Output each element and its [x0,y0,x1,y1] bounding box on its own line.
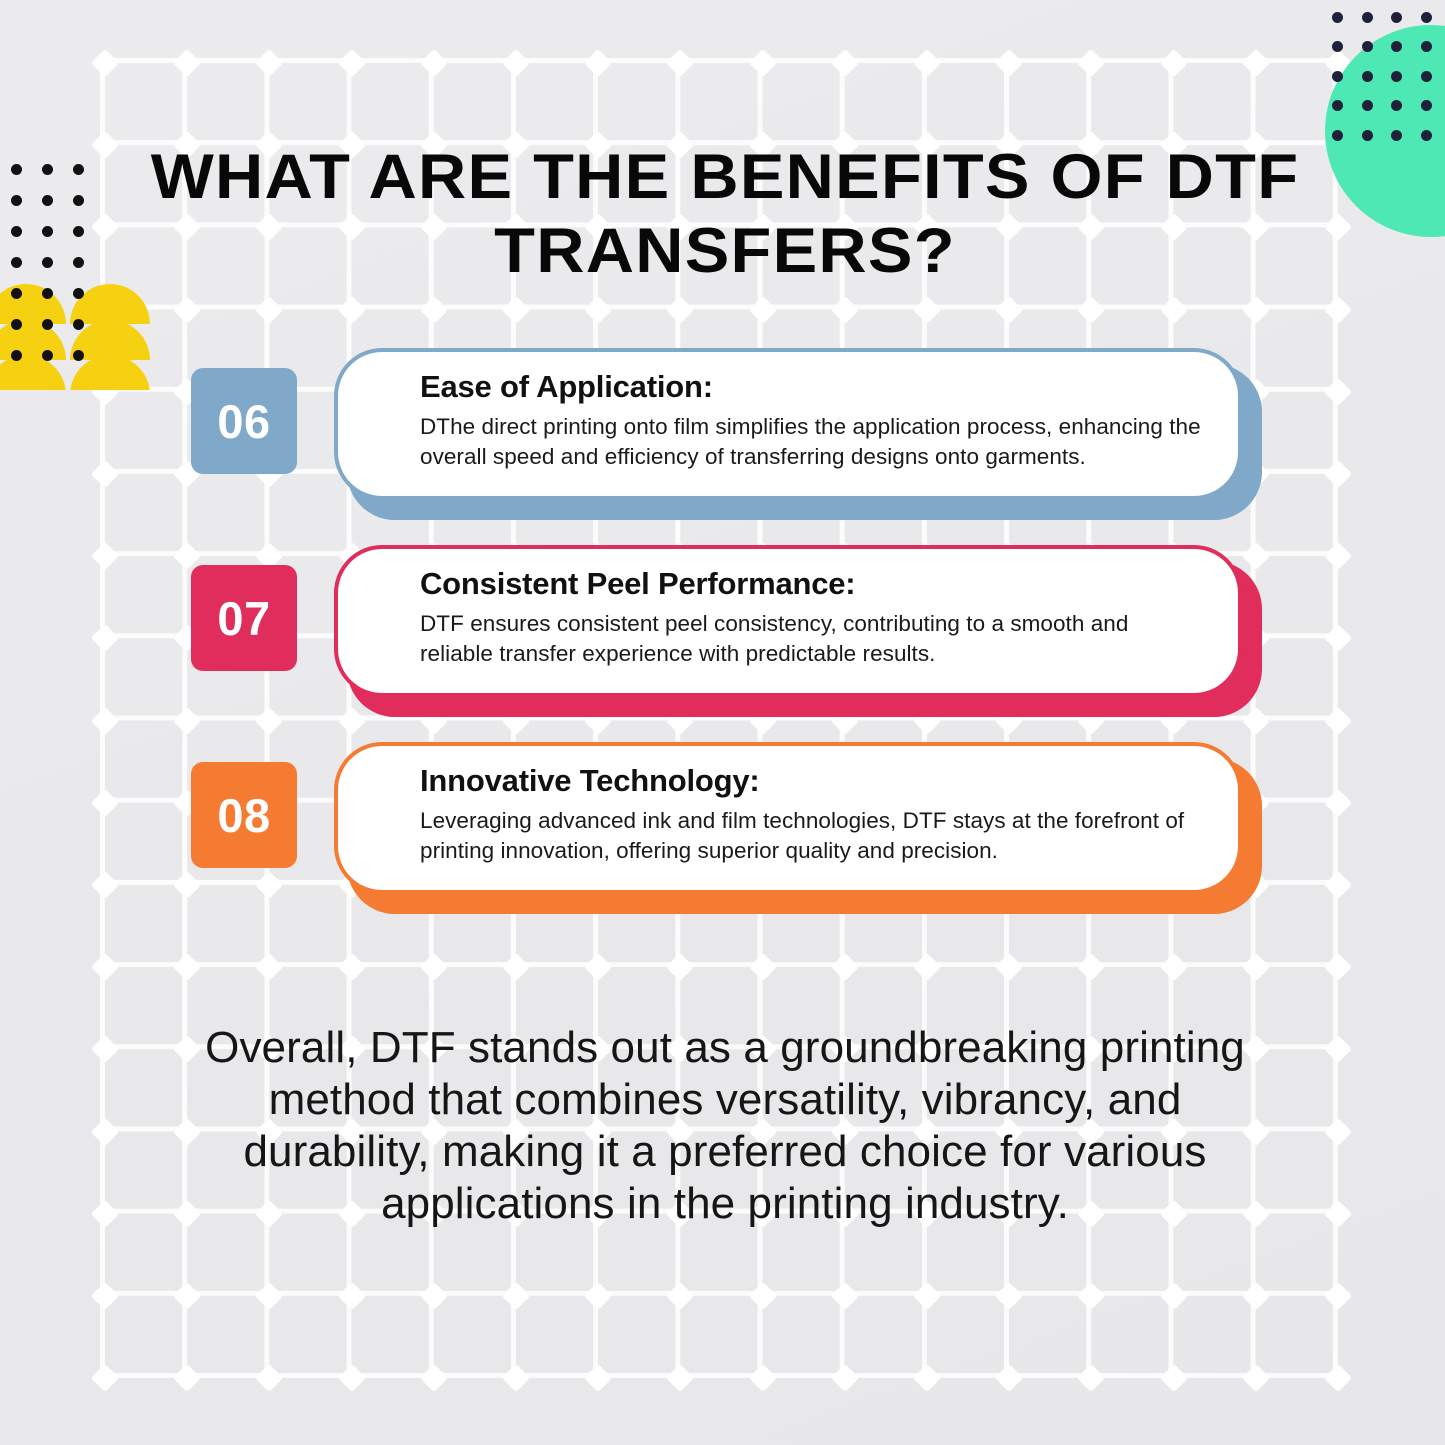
grid-node-diamond [91,789,119,817]
decorative-dot [42,288,53,299]
decorative-dot [73,164,84,175]
grid-node-diamond [1242,1364,1270,1392]
closing-paragraph: Overall, DTF stands out as a groundbreak… [175,1022,1275,1230]
grid-node-diamond [420,295,448,323]
grid-node-diamond [337,1364,365,1392]
grid-node-diamond [420,49,448,77]
grid-node-diamond [584,1364,612,1392]
grid-node-diamond [913,1282,941,1310]
grid-node-diamond [584,1282,612,1310]
grid-node-diamond [913,953,941,981]
grid-node-diamond [173,1282,201,1310]
grid-node-diamond [913,295,941,323]
benefit-card-08[interactable]: Innovative Technology: Leveraging advanc… [334,742,1242,894]
grid-node-diamond [831,953,859,981]
grid-node-diamond [91,460,119,488]
grid-node-diamond [502,295,530,323]
benefit-body-06: DThe direct printing onto film simplifie… [420,412,1204,472]
grid-node-diamond [337,953,365,981]
grid-node-diamond [502,1282,530,1310]
grid-node-diamond [831,1282,859,1310]
grid-node-diamond [337,49,365,77]
decorative-dot [73,195,84,206]
decorative-dot [11,164,22,175]
grid-node-diamond [1242,295,1270,323]
grid-node-diamond [91,1035,119,1063]
grid-node-diamond [1159,953,1187,981]
grid-node-diamond [913,1364,941,1392]
grid-node-diamond [173,706,201,734]
yellow-semicircle [0,320,66,360]
benefit-card-07[interactable]: Consistent Peel Performance: DTF ensures… [334,545,1242,697]
grid-node-diamond [337,1282,365,1310]
decorative-dot [73,288,84,299]
grid-node-diamond [1324,1035,1352,1063]
grid-node-diamond [255,953,283,981]
grid-node-diamond [502,953,530,981]
grid-node-diamond [173,871,201,899]
benefit-body-08: Leveraging advanced ink and film technol… [420,806,1204,866]
grid-node-diamond [1077,1282,1105,1310]
grid-node-diamond [584,953,612,981]
decorative-dot [11,350,22,361]
grid-node-diamond [831,1364,859,1392]
grid-node-diamond [502,1364,530,1392]
grid-node-diamond [748,953,776,981]
decorative-dot [11,288,22,299]
grid-node-diamond [995,953,1023,981]
grid-node-diamond [995,1364,1023,1392]
decorative-dot [11,195,22,206]
grid-node-diamond [1077,295,1105,323]
grid-node-diamond [1324,1117,1352,1145]
grid-node-diamond [1077,49,1105,77]
grid-node-diamond [91,871,119,899]
grid-node-diamond [1324,213,1352,241]
grid-node-diamond [1242,953,1270,981]
grid-node-diamond [91,1364,119,1392]
grid-node-diamond [995,1282,1023,1310]
grid-node-diamond [255,49,283,77]
grid-node-diamond [1324,295,1352,323]
grid-node-diamond [1324,789,1352,817]
grid-node-diamond [748,1282,776,1310]
grid-node-diamond [255,706,283,734]
decorative-dot [11,257,22,268]
grid-node-diamond [1077,1364,1105,1392]
benefit-heading-07: Consistent Peel Performance: [420,565,1204,603]
badge-number-07: 07 [191,565,297,671]
grid-node-diamond [1242,706,1270,734]
decorative-dot [42,257,53,268]
grid-node-diamond [1159,1282,1187,1310]
grid-node-diamond [337,295,365,323]
grid-node-diamond [666,49,694,77]
grid-node-diamond [420,1282,448,1310]
grid-node-diamond [1242,49,1270,77]
yellow-arc-row [0,284,150,320]
grid-node-diamond [337,706,365,734]
yellow-semicircle [0,355,66,390]
decorative-dot [11,319,22,330]
grid-node-diamond [666,1364,694,1392]
decorative-dot [1332,12,1343,23]
grid-node-diamond [91,49,119,77]
decorative-dot [1332,41,1343,52]
teal-circle-decoration [1325,25,1445,237]
grid-node-diamond [502,49,530,77]
decorative-dot [42,226,53,237]
grid-node-diamond [173,49,201,77]
grid-node-diamond [91,1200,119,1228]
grid-node-diamond [1324,953,1352,981]
grid-node-diamond [1324,460,1352,488]
decorative-dot [1391,12,1402,23]
yellow-semicircle [0,284,66,324]
grid-node-diamond [1242,1282,1270,1310]
grid-node-diamond [1159,49,1187,77]
grid-node-diamond [1159,1364,1187,1392]
benefit-heading-06: Ease of Application: [420,368,1204,406]
grid-node-diamond [584,49,612,77]
grid-node-diamond [748,295,776,323]
grid-node-diamond [1324,624,1352,652]
grid-node-diamond [748,49,776,77]
grid-node-diamond [995,295,1023,323]
grid-node-diamond [173,295,201,323]
yellow-arc-row [0,355,150,390]
grid-node-diamond [91,213,119,241]
grid-node-diamond [913,49,941,77]
grid-node-diamond [91,706,119,734]
decorative-dot [73,226,84,237]
badge-number-06: 06 [191,368,297,474]
yellow-arc-row [0,320,150,356]
grid-node-diamond [91,378,119,406]
grid-node-diamond [91,624,119,652]
decorative-dot [1421,12,1432,23]
grid-node-diamond [1324,1282,1352,1310]
grid-node-diamond [91,131,119,159]
grid-node-diamond [1077,953,1105,981]
grid-node-diamond [1242,542,1270,570]
grid-node-diamond [173,1364,201,1392]
grid-node-diamond [255,1364,283,1392]
grid-node-diamond [666,295,694,323]
yellow-semicircle-decoration [0,284,150,390]
benefit-body-07: DTF ensures consistent peel consistency,… [420,609,1204,669]
grid-node-diamond [995,49,1023,77]
grid-node-diamond [1159,295,1187,323]
decorative-dot [73,350,84,361]
yellow-semicircle [70,320,150,360]
grid-node-diamond [173,953,201,981]
grid-node-diamond [831,49,859,77]
grid-node-diamond [831,295,859,323]
decorative-dot [42,319,53,330]
decorative-dot [73,257,84,268]
decorative-dot [42,195,53,206]
grid-node-diamond [1324,378,1352,406]
grid-node-diamond [1324,542,1352,570]
grid-node-diamond [666,953,694,981]
decorative-dot [42,164,53,175]
grid-node-diamond [91,542,119,570]
decorative-dot [1362,12,1373,23]
dot-grid-top-left [0,160,100,360]
grid-node-diamond [1324,871,1352,899]
benefit-card-06[interactable]: Ease of Application: DThe direct printin… [334,348,1242,500]
grid-node-diamond [91,1117,119,1145]
grid-node-diamond [91,953,119,981]
grid-node-diamond [1324,706,1352,734]
grid-node-diamond [1324,1364,1352,1392]
grid-node-diamond [255,871,283,899]
grid-node-diamond [584,295,612,323]
infographic-canvas: WHAT ARE THE BENEFITS OF DTF TRANSFERS? … [0,0,1445,1445]
grid-node-diamond [420,953,448,981]
grid-node-diamond [91,295,119,323]
yellow-semicircle [70,284,150,324]
grid-node-diamond [420,1364,448,1392]
badge-number-08: 08 [191,762,297,868]
page-title: WHAT ARE THE BENEFITS OF DTF TRANSFERS? [137,140,1314,288]
grid-node-diamond [255,295,283,323]
decorative-dot [42,350,53,361]
decorative-dot [11,226,22,237]
grid-node-diamond [748,1364,776,1392]
grid-node-diamond [91,1282,119,1310]
grid-node-diamond [255,1282,283,1310]
yellow-semicircle [70,355,150,390]
benefit-heading-08: Innovative Technology: [420,762,1204,800]
grid-node-diamond [666,1282,694,1310]
grid-node-diamond [1324,1200,1352,1228]
decorative-dot [73,319,84,330]
